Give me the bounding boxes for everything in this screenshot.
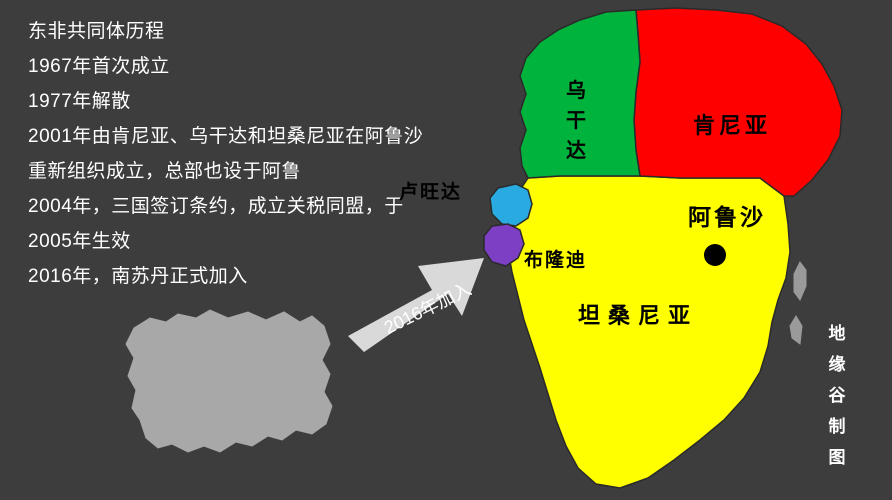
timeline-line: 2016年，南苏丹正式加入 — [28, 259, 508, 294]
timeline-line: 东非共同体历程 — [28, 14, 508, 49]
city-dot-arusha — [704, 244, 726, 266]
timeline-text-block: 东非共同体历程 1967年首次成立 1977年解散 2001年由肯尼亚、乌干达和… — [28, 14, 508, 294]
timeline-line: 2005年生效 — [28, 224, 508, 259]
label-rwanda: 卢旺达 — [399, 182, 462, 204]
coastline-strip — [794, 262, 806, 300]
coastline-strip-2 — [790, 316, 802, 344]
label-kenya: 肯尼亚 — [693, 113, 771, 138]
region-south-sudan — [126, 310, 332, 452]
label-uganda: 乌 干 达 — [566, 76, 586, 166]
timeline-line: 2001年由肯尼亚、乌干达和坦桑尼亚在阿鲁沙 — [28, 119, 508, 154]
credit-watermark: 地缘谷 制图 — [826, 318, 848, 473]
label-burundi: 布隆迪 — [524, 250, 587, 272]
timeline-line: 1967年首次成立 — [28, 49, 508, 84]
label-arusha-city: 阿鲁沙 — [688, 204, 766, 230]
label-tanzania: 坦桑尼亚 — [578, 303, 698, 328]
map-infographic: 东非共同体历程 1967年首次成立 1977年解散 2001年由肯尼亚、乌干达和… — [0, 0, 892, 500]
region-kenya — [634, 8, 842, 196]
timeline-line: 1977年解散 — [28, 84, 508, 119]
